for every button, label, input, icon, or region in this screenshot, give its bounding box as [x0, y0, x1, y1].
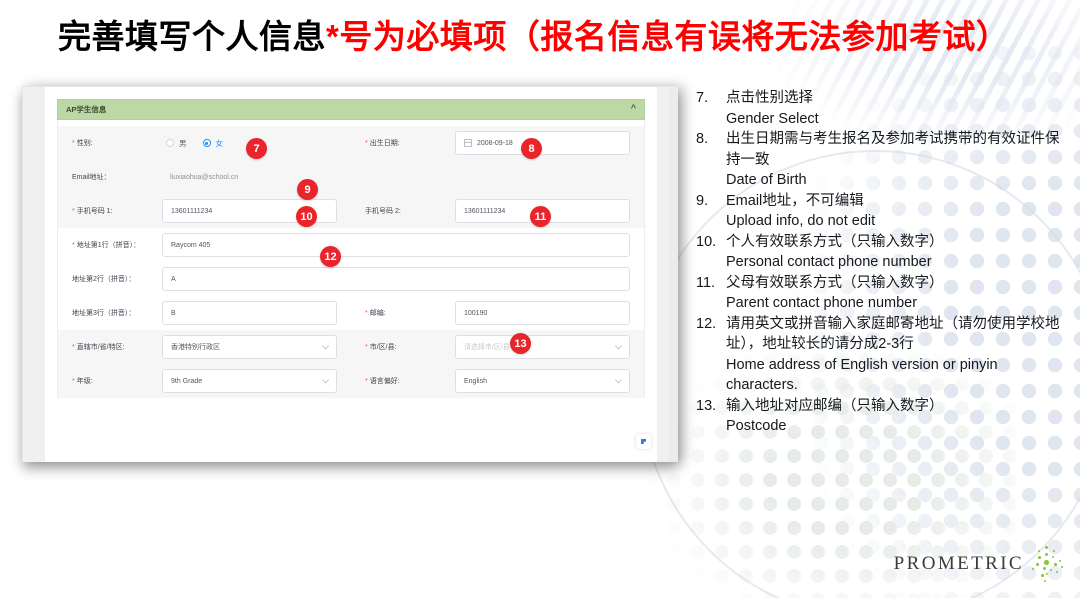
required-asterisk: * [72, 242, 75, 249]
province-value: 香港特别行政区 [171, 342, 220, 352]
logo-dot [1032, 568, 1034, 570]
city-wrap: 请选择市/区/县 [455, 335, 630, 359]
label-address-3: 地址第3行（拼音）： [58, 308, 162, 319]
label-gender: *性别: [58, 138, 162, 149]
note-body: 请用英文或拼音输入家庭邮寄地址（请勿使用学校地址），地址较长的请分成2-3行Ho… [726, 314, 1068, 396]
date-of-birth-input[interactable]: 2008-09-18 [455, 131, 630, 155]
annotation-notes-list: 7.点击性别选择Gender Select8.出生日期需与考生报名及参加考试携带… [696, 88, 1068, 437]
note-text-en: Date of Birth [726, 170, 1068, 191]
callout-badge-10: 10 [296, 206, 317, 227]
form-row-address-2: 地址第2行（拼音）： A [58, 262, 644, 296]
field-grade: *年级: 9th Grade [58, 364, 351, 398]
note-body: 点击性别选择Gender Select [726, 88, 1068, 129]
language-wrap: English [455, 369, 630, 393]
chevron-down-icon [615, 376, 622, 383]
callout-badge-12: 12 [320, 246, 341, 267]
form-row-phones: *手机号码 1: 13601111234 手机号码 2: 13601111234 [58, 194, 644, 228]
postcode-input[interactable]: 100190 [455, 301, 630, 325]
address-2-value: A [171, 276, 176, 283]
logo-dot [1036, 563, 1039, 566]
label-email: Email地址： [58, 172, 162, 183]
dob-input-wrap: 2008-09-18 [455, 131, 630, 155]
prometric-wordmark: PROMETRIC [894, 553, 1024, 575]
address-3-input[interactable]: B [162, 301, 337, 325]
note-item: 7.点击性别选择Gender Select [696, 88, 1068, 129]
note-number: 9. [696, 191, 726, 232]
field-address-2: 地址第2行（拼音）： A [58, 262, 644, 296]
slide-title-required-note: *号为必填项（报名信息有误将无法参加考试） [326, 18, 1009, 55]
logo-dot [1056, 571, 1058, 573]
note-body: 输入地址对应邮编（只输入数字）Postcode [726, 396, 1068, 437]
language-select[interactable]: English [455, 369, 630, 393]
widget-glyph-icon [641, 439, 646, 444]
address-2-wrap: A [162, 267, 630, 291]
required-asterisk: * [365, 344, 368, 351]
label-phone-1: *手机号码 1: [58, 206, 162, 217]
required-asterisk: * [72, 344, 75, 351]
radio-gender-female[interactable]: 女 [203, 138, 224, 149]
address-2-input[interactable]: A [162, 267, 630, 291]
note-number: 8. [696, 129, 726, 191]
field-postcode: *邮编: 100190 [351, 296, 644, 330]
province-select[interactable]: 香港特别行政区 [162, 335, 337, 359]
province-wrap: 香港特别行政区 [162, 335, 337, 359]
label-city: *市/区/县: [351, 342, 455, 353]
label-date-of-birth: *出生日期: [351, 138, 455, 149]
note-number: 12. [696, 314, 726, 396]
field-address-1: *地址第1行（拼音）： Raycom 405 [58, 228, 644, 262]
address-3-wrap: B [162, 301, 337, 325]
prometric-logo: PROMETRIC [894, 544, 1064, 584]
radio-gender-male[interactable]: 男 [166, 138, 187, 149]
city-placeholder: 请选择市/区/县 [464, 342, 510, 352]
label-phone-2: 手机号码 2: [351, 206, 455, 217]
chevron-up-icon[interactable]: ^ [631, 104, 636, 113]
note-text-cn: 父母有效联系方式（只输入数字） [726, 273, 1068, 294]
student-info-form: *性别: 男 女 *出生日期: 2 [57, 120, 645, 398]
note-body: 父母有效联系方式（只输入数字）Parent contact phone numb… [726, 273, 1068, 314]
callout-badge-7: 7 [246, 138, 267, 159]
field-city: *市/区/县: 请选择市/区/县 [351, 330, 644, 364]
label-address-2: 地址第2行（拼音）： [58, 274, 162, 285]
floating-helper-widget[interactable] [636, 434, 651, 449]
note-text-en: Personal contact phone number [726, 252, 1068, 273]
logo-dot [1053, 550, 1055, 552]
address-3-value: B [171, 310, 176, 317]
form-row-address-1: *地址第1行（拼音）： Raycom 405 [58, 228, 644, 262]
email-spacer [455, 165, 630, 189]
postcode-wrap: 100190 [455, 301, 630, 325]
note-number: 10. [696, 232, 726, 273]
logo-dot [1059, 560, 1061, 562]
address-1-input[interactable]: Raycom 405 [162, 233, 630, 257]
form-row-gender-dob: *性别: 男 女 *出生日期: 2 [58, 126, 644, 160]
slide-title: 完善填写个人信息*号为必填项（报名信息有误将无法参加考试） [58, 14, 1009, 60]
required-asterisk: * [365, 310, 368, 317]
label-language: *语言偏好: [351, 376, 455, 387]
logo-dot [1038, 550, 1040, 552]
note-body: Email地址，不可编辑Upload info, do not edit [726, 191, 1068, 232]
required-asterisk: * [365, 378, 368, 385]
logo-dot [1050, 569, 1052, 571]
field-address-3: 地址第3行（拼音）： B [58, 296, 351, 330]
logo-dot [1054, 563, 1057, 566]
address-1-wrap: Raycom 405 [162, 233, 630, 257]
logo-dot [1044, 580, 1046, 582]
note-number: 7. [696, 88, 726, 129]
phone-2-value: 13601111234 [464, 208, 505, 215]
note-item: 13.输入地址对应邮编（只输入数字）Postcode [696, 396, 1068, 437]
required-asterisk: * [365, 140, 368, 147]
application-screenshot: AP学生信息 ^ *性别: 男 女 [22, 86, 678, 462]
student-info-card-header[interactable]: AP学生信息 ^ [57, 99, 645, 120]
form-row-address3-postcode: 地址第3行（拼音）： B *邮编: 100190 [58, 296, 644, 330]
logo-dot [1052, 556, 1054, 558]
note-item: 8.出生日期需与考生报名及参加考试携带的有效证件保持一致Date of Birt… [696, 129, 1068, 191]
note-text-cn: 个人有效联系方式（只输入数字） [726, 232, 1068, 253]
language-value: English [464, 378, 487, 385]
note-text-cn: 点击性别选择 [726, 88, 1068, 109]
radio-dot-icon [203, 139, 211, 147]
callout-badge-8: 8 [521, 138, 542, 159]
required-asterisk: * [72, 140, 75, 147]
date-of-birth-value: 2008-09-18 [477, 140, 513, 147]
note-text-cn: 出生日期需与考生报名及参加考试携带的有效证件保持一致 [726, 129, 1068, 170]
note-item: 10.个人有效联系方式（只输入数字）Personal contact phone… [696, 232, 1068, 273]
postcode-value: 100190 [464, 310, 487, 317]
chevron-down-icon [322, 342, 329, 349]
field-province: *直辖市/省/特区: 香港特别行政区 [58, 330, 351, 364]
logo-dot [1061, 566, 1063, 568]
field-email-spacer [351, 160, 644, 194]
form-row-province-city: *直辖市/省/特区: 香港特别行政区 *市/区/县: 请选择市/区 [58, 330, 644, 364]
note-text-cn: 请用英文或拼音输入家庭邮寄地址（请勿使用学校地址），地址较长的请分成2-3行 [726, 314, 1068, 355]
label-province: *直辖市/省/特区: [58, 342, 162, 353]
logo-dot [1045, 553, 1048, 556]
note-text-en: Upload info, do not edit [726, 211, 1068, 232]
field-language: *语言偏好: English [351, 364, 644, 398]
screenshot-viewport: AP学生信息 ^ *性别: 男 女 [45, 87, 657, 462]
required-asterisk: * [72, 208, 75, 215]
note-body: 个人有效联系方式（只输入数字）Personal contact phone nu… [726, 232, 1068, 273]
field-date-of-birth: *出生日期: 2008-09-18 [351, 126, 644, 160]
logo-dot [1038, 556, 1041, 559]
note-text-cn: Email地址，不可编辑 [726, 191, 1068, 212]
logo-dot [1043, 567, 1046, 570]
note-item: 11.父母有效联系方式（只输入数字）Parent contact phone n… [696, 273, 1068, 314]
note-body: 出生日期需与考生报名及参加考试携带的有效证件保持一致Date of Birth [726, 129, 1068, 191]
address-1-value: Raycom 405 [171, 242, 210, 249]
callout-badge-13: 13 [510, 333, 531, 354]
logo-dot [1045, 546, 1048, 549]
note-text-en: Parent contact phone number [726, 293, 1068, 314]
note-number: 11. [696, 273, 726, 314]
callout-badge-11: 11 [530, 206, 551, 227]
required-asterisk: * [72, 378, 75, 385]
grade-wrap: 9th Grade [162, 369, 337, 393]
logo-dot [1044, 560, 1049, 565]
slide-title-main: 完善填写个人信息 [58, 18, 326, 55]
calendar-icon [464, 139, 472, 147]
logo-dot [1041, 574, 1044, 577]
logo-dot [1046, 573, 1048, 575]
radio-dot-icon [166, 139, 174, 147]
note-text-en: Home address of English version or pinyi… [726, 355, 1068, 396]
city-select[interactable]: 请选择市/区/县 [455, 335, 630, 359]
field-gender: *性别: 男 女 [58, 126, 351, 160]
note-item: 12.请用英文或拼音输入家庭邮寄地址（请勿使用学校地址），地址较长的请分成2-3… [696, 314, 1068, 396]
label-address-1: *地址第1行（拼音）： [58, 240, 162, 251]
field-phone-2: 手机号码 2: 13601111234 [351, 194, 644, 228]
form-row-grade-language: *年级: 9th Grade *语言偏好: English [58, 364, 644, 398]
phone-1-value: 13601111234 [171, 208, 212, 215]
card-title: AP学生信息 [66, 104, 631, 115]
slide-canvas: 完善填写个人信息*号为必填项（报名信息有误将无法参加考试） AP学生信息 ^ *… [0, 0, 1080, 598]
label-grade: *年级: [58, 376, 162, 387]
note-text-cn: 输入地址对应邮编（只输入数字） [726, 396, 1068, 417]
note-text-en: Postcode [726, 416, 1068, 437]
note-text-en: Gender Select [726, 109, 1068, 130]
grade-value: 9th Grade [171, 378, 202, 385]
chevron-down-icon [615, 342, 622, 349]
chevron-down-icon [322, 376, 329, 383]
grade-select[interactable]: 9th Grade [162, 369, 337, 393]
note-number: 13. [696, 396, 726, 437]
form-row-email: Email地址： liuxiaohua@school.cn [58, 160, 644, 194]
prometric-starburst-icon [1028, 544, 1064, 584]
note-item: 9.Email地址，不可编辑Upload info, do not edit [696, 191, 1068, 232]
label-postcode: *邮编: [351, 308, 455, 319]
screenshot-scrollbar[interactable] [669, 87, 678, 462]
callout-badge-9: 9 [297, 179, 318, 200]
